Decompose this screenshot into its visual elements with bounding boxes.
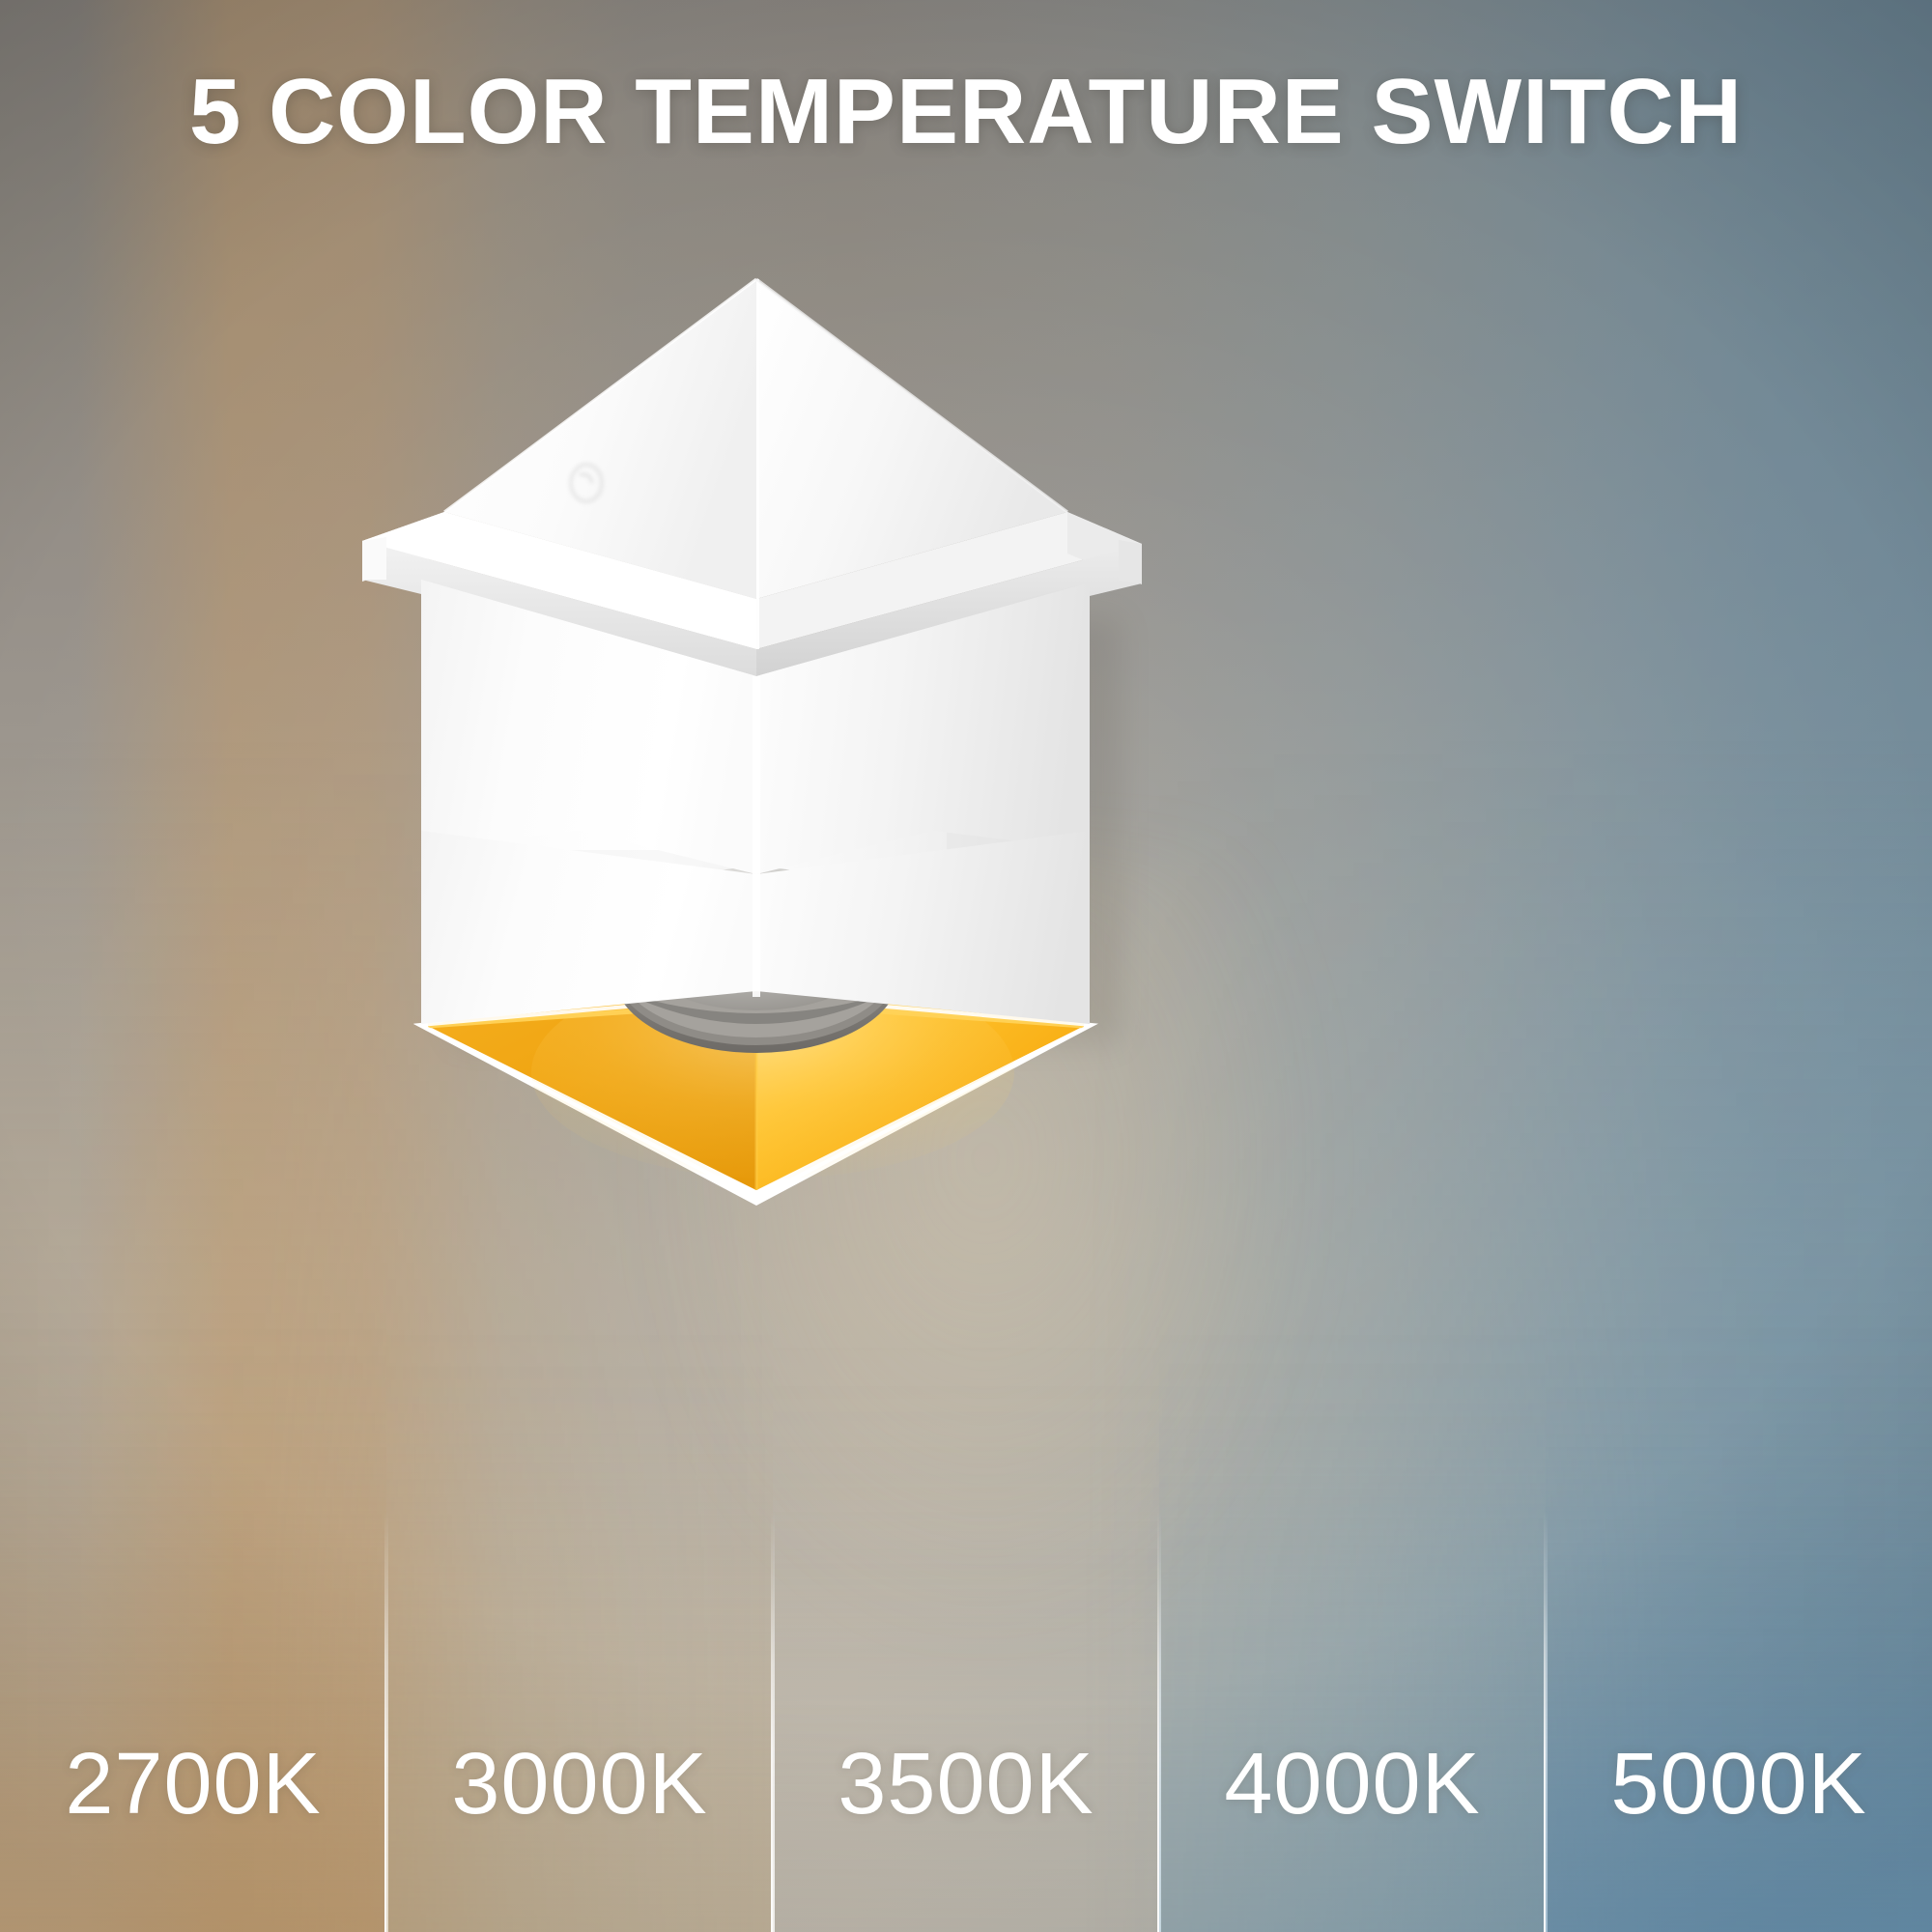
- swatch-label-3500k: 3500K: [838, 1741, 1094, 1828]
- swatch-tint-5000k: [1546, 1294, 1932, 1932]
- swatch-label-4000k: 4000K: [1224, 1741, 1480, 1828]
- swatch-2700k[interactable]: 2700K: [0, 1294, 386, 1932]
- color-temperature-bar: 2700K 3000K 3500K 4000K 5000K: [0, 1294, 1932, 1932]
- swatch-tint-2700k: [0, 1294, 386, 1932]
- swatch-label-5000k: 5000K: [1610, 1741, 1866, 1828]
- page-title: 5 COLOR TEMPERATURE SWITCH: [0, 64, 1932, 161]
- swatch-5000k[interactable]: 5000K: [1546, 1294, 1932, 1932]
- product-marketing-image: 5 COLOR TEMPERATURE SWITCH: [0, 0, 1932, 1932]
- swatch-4000k[interactable]: 4000K: [1159, 1294, 1546, 1932]
- swatch-3000k[interactable]: 3000K: [386, 1294, 773, 1932]
- swatch-tint-3500k: [773, 1294, 1159, 1932]
- swatch-tint-4000k: [1159, 1294, 1546, 1932]
- swatch-label-2700k: 2700K: [65, 1741, 321, 1828]
- swatch-tint-3000k: [386, 1294, 773, 1932]
- swatch-label-3000k: 3000K: [451, 1741, 707, 1828]
- swatch-3500k[interactable]: 3500K: [773, 1294, 1159, 1932]
